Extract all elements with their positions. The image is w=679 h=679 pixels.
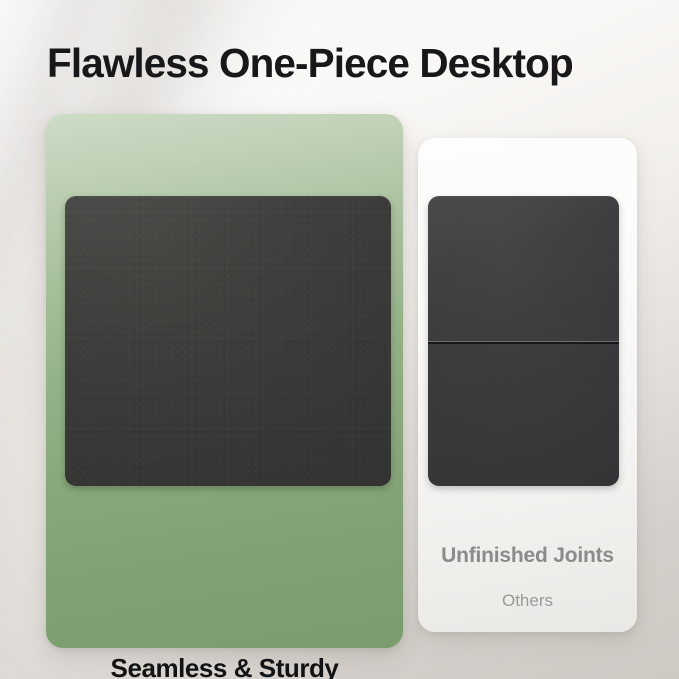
product-comparison-graphic: Flawless One-Piece Desktop Seamless & St… (0, 0, 679, 679)
comparison-card-ours: Seamless & Sturdy Ours (46, 114, 403, 648)
desktop-panel-jointed (428, 196, 619, 486)
page-title: Flawless One-Piece Desktop (47, 41, 647, 85)
surface-sheen (65, 196, 391, 486)
card-headline-ours: Seamless & Sturdy (46, 653, 403, 679)
card-label-others: Others (418, 591, 637, 611)
comparison-card-others: Unfinished Joints Others (418, 138, 637, 632)
desktop-panel-seamless (65, 196, 391, 486)
card-headline-others: Unfinished Joints (418, 544, 637, 568)
panel-seam-line (428, 341, 619, 344)
